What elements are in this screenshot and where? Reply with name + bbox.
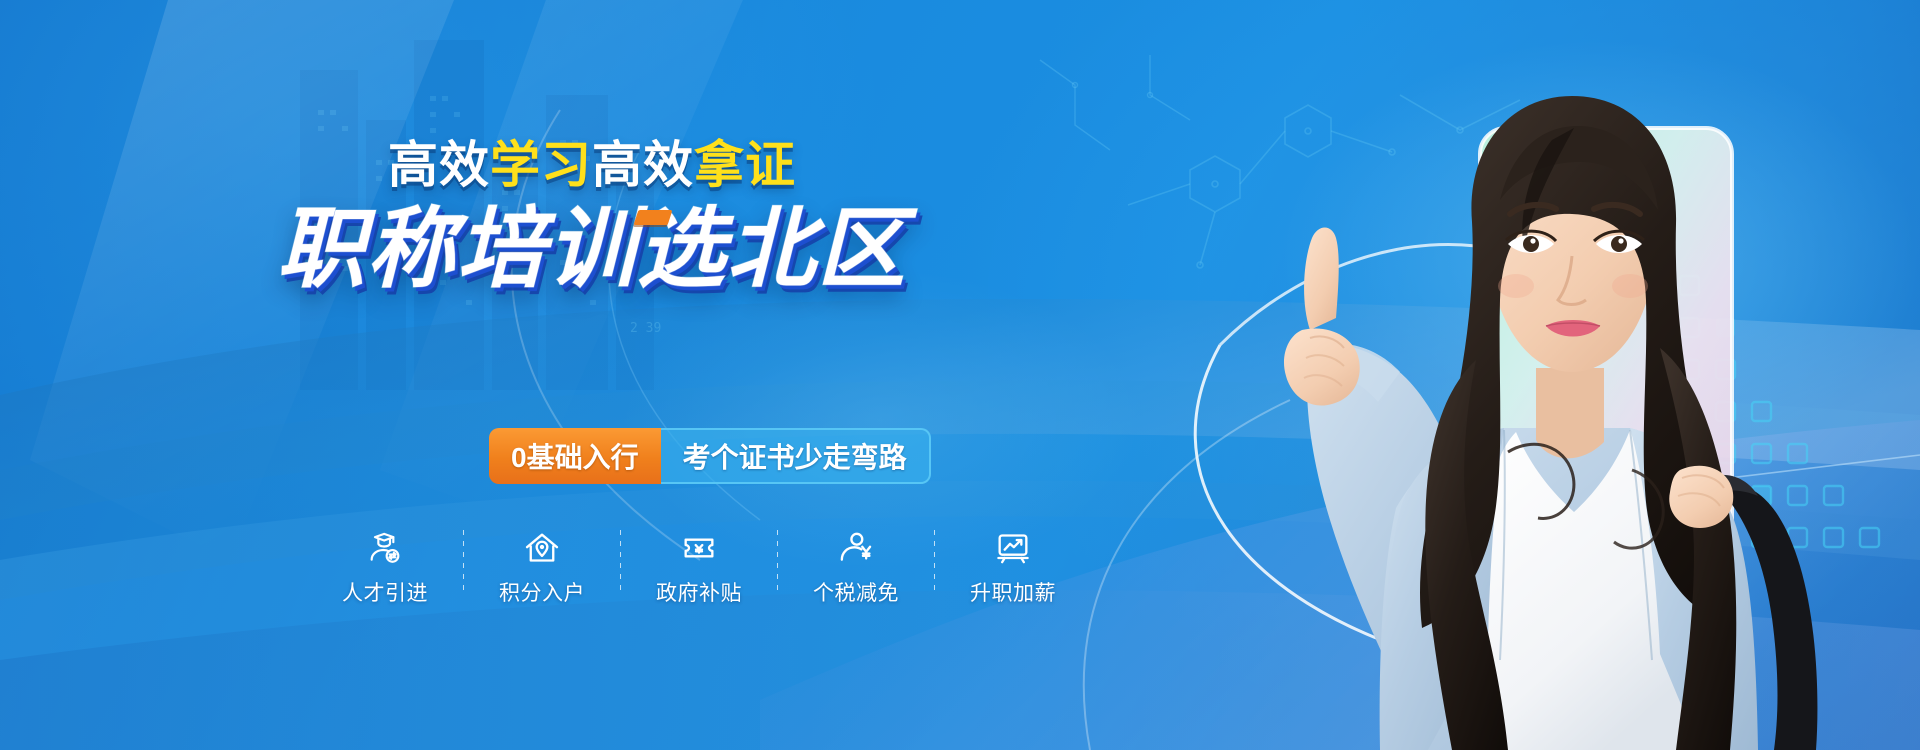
person-yuan-icon <box>836 528 876 568</box>
feature-divider <box>934 530 935 592</box>
headline-subline: 高效学习高效拿证 <box>232 140 952 190</box>
background-artwork: 2 39 <box>0 0 1920 750</box>
headline-sub-part-2: 学习 <box>490 137 592 193</box>
headline-main-text: 职称培训选北区 <box>277 199 907 298</box>
molecule-network <box>1128 95 1520 268</box>
coupon-yuan-icon <box>679 528 719 568</box>
feature-item-subsidy[interactable]: 政府补贴 <box>644 528 754 607</box>
headline-block: 高效学习高效拿证 职称培训选北区 <box>232 140 952 295</box>
swoosh-line <box>1195 345 1440 660</box>
feature-divider <box>463 530 464 592</box>
feature-label: 人才引进 <box>342 577 428 607</box>
feature-label: 升职加薪 <box>970 577 1056 607</box>
tech-squares <box>1680 276 1879 547</box>
gradient-panel <box>1480 128 1732 548</box>
headline-main: 职称培训选北区 <box>232 202 952 295</box>
tagline-badge: 0基础入行 考个证书少走弯路 <box>489 428 931 484</box>
feature-divider <box>620 530 621 592</box>
feature-item-residency[interactable]: 积分入户 <box>487 528 597 607</box>
growth-chart-icon <box>993 528 1033 568</box>
tech-squares-filled <box>1716 318 1771 505</box>
headline-sub-part-4: 拿证 <box>694 137 796 193</box>
headline-sub-part-1: 高效 <box>388 137 490 193</box>
orange-accent-mark <box>634 210 673 225</box>
model-portrait-composition <box>1160 0 1920 750</box>
feature-label: 积分入户 <box>499 577 585 607</box>
promo-banner: 2 39 <box>0 0 1920 750</box>
feature-item-promotion[interactable]: 升职加薪 <box>958 528 1068 607</box>
badge-left-label: 0基础入行 <box>489 428 661 484</box>
feature-item-tax[interactable]: 个税减免 <box>801 528 911 607</box>
feature-label: 个税减免 <box>813 577 899 607</box>
woman-photo <box>1284 96 1817 750</box>
feature-item-talent[interactable]: 人才引进 <box>330 528 440 607</box>
svg-text:2 39: 2 39 <box>630 321 661 336</box>
house-pin-icon <box>522 528 562 568</box>
feature-label: 政府补贴 <box>656 577 742 607</box>
feature-divider <box>777 530 778 592</box>
graduate-person-icon <box>365 528 405 568</box>
badge-right-label: 考个证书少走弯路 <box>661 428 931 484</box>
feature-list: 人才引进 积分入户 政府补贴 <box>330 528 1068 607</box>
headline-sub-part-3: 高效 <box>592 137 694 193</box>
